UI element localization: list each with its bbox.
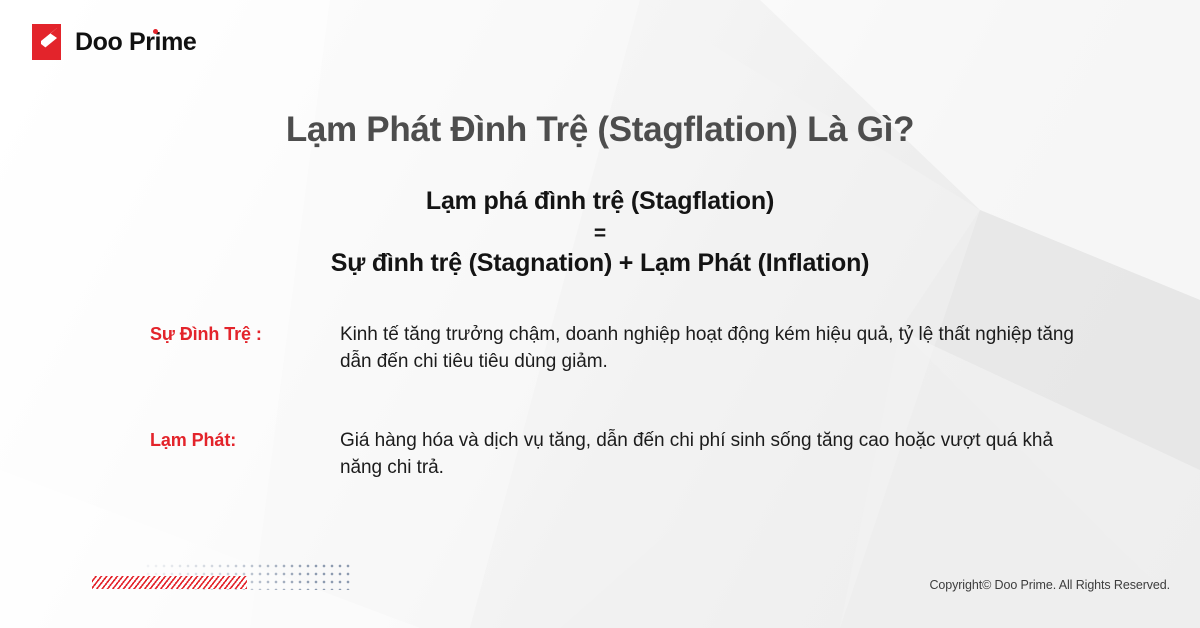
definition-list: Sự Đình Trệ : Kinh tế tăng trưởng chậm, … — [150, 322, 1110, 482]
definition-term: Sự Đình Trệ : — [150, 322, 340, 348]
copyright-text: Copyright© Doo Prime. All Rights Reserve… — [929, 578, 1170, 592]
definition-row: Lạm Phát: Giá hàng hóa và dịch vụ tăng, … — [150, 428, 1110, 482]
page-title: Lạm Phát Đình Trệ (Stagflation) Là Gì? — [0, 109, 1200, 151]
equation-line-2: Sự đình trệ (Stagnation) + Lạm Phát (Inf… — [0, 251, 1200, 276]
definition-description: Kinh tế tăng trưởng chậm, doanh nghiệp h… — [340, 322, 1100, 376]
definition-row: Sự Đình Trệ : Kinh tế tăng trưởng chậm, … — [150, 322, 1110, 376]
equation-line-1: Lạm phá đình trệ (Stagflation) — [0, 189, 1200, 214]
wordmark-accent-dot — [153, 29, 158, 34]
doo-prime-logo-icon — [32, 24, 66, 60]
brand-wordmark: Doo Prime — [75, 30, 196, 55]
definition-description: Giá hàng hóa và dịch vụ tăng, dẫn đến ch… — [340, 428, 1100, 482]
stripe-bar-decoration — [92, 576, 247, 589]
brand-wordmark-text: Doo Prime — [75, 28, 196, 56]
brand-logo[interactable]: Doo Prime — [32, 24, 196, 60]
background-facets — [0, 0, 1200, 628]
footer-decoration — [92, 560, 352, 598]
equation-block: Lạm phá đình trệ (Stagflation) = Sự đình… — [0, 189, 1200, 276]
definition-term: Lạm Phát: — [150, 428, 340, 454]
equation-operator: = — [0, 223, 1200, 244]
slide-canvas: Doo Prime Lạm Phát Đình Trệ (Stagflation… — [0, 0, 1200, 628]
